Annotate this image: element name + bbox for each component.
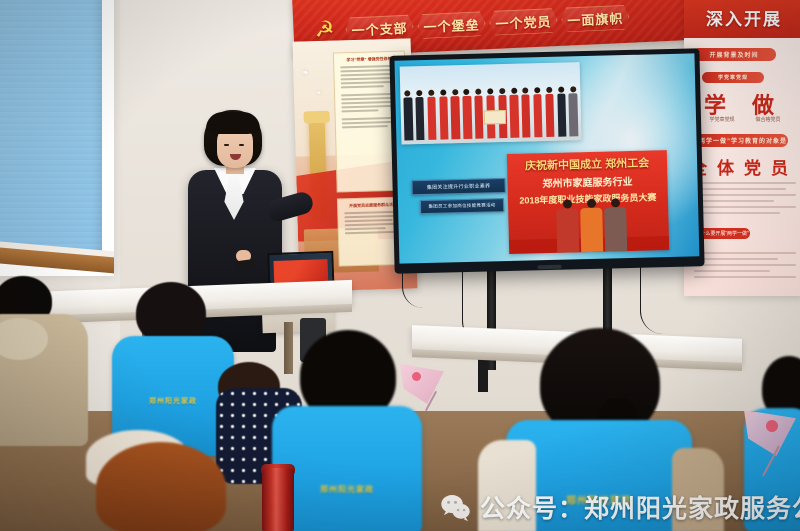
- award-figure-2: [580, 199, 603, 253]
- watermark: 公众号：郑州阳光家政服务公司: [440, 489, 800, 525]
- award-figure-3: [604, 198, 627, 252]
- window-blind: [0, 0, 102, 254]
- tv-brand-logo: [538, 265, 562, 270]
- award-banner-line-1: 庆祝新中国成立 郑州工会: [507, 154, 667, 174]
- slide-award-photo: 庆祝新中国成立 郑州工会 郑州市家庭服务行业 2018年度职业技能家政服务员大赛: [507, 150, 669, 254]
- presentation-display[interactable]: 庆祝新中国成立 郑州工会 郑州市家庭服务行业 2018年度职业技能家政服务员大赛…: [389, 48, 704, 274]
- bouquet-bud-right: [766, 420, 778, 432]
- award-banner-line-2: 郑州市家庭服务行业: [507, 172, 667, 191]
- wechat-icon: [440, 492, 471, 523]
- campaign-pill-2: “两学一做”学习教育的对象是: [694, 134, 788, 147]
- dove-icon-2: ❧: [316, 89, 322, 97]
- slide-caption-2: 集团员工参加岗位技能竞赛活动: [420, 198, 504, 214]
- dove-icon: ❧: [301, 67, 309, 78]
- award-figure-1: [556, 199, 579, 253]
- slide-caption-1: 集团关注提升行业职业素养: [411, 178, 505, 195]
- campaign-poster-header: 深入开展: [684, 0, 800, 38]
- audience-head-2: [136, 282, 206, 344]
- campaign-poster-heading: 深入开展: [706, 5, 782, 30]
- campaign-pill-1: 开展背景及时间: [692, 48, 776, 61]
- tv-screen: 庆祝新中国成立 郑州工会 郑州市家庭服务行业 2018年度职业技能家政服务员大赛…: [395, 53, 700, 263]
- bouquet-bud-left: [412, 372, 421, 381]
- bouquet-wrap-right: [744, 410, 796, 456]
- desk-leg-2: [284, 322, 293, 374]
- group-photo-people: [402, 84, 579, 140]
- tv-stand-leg: [478, 358, 488, 392]
- banner-phrase-2: 一个堡垒: [417, 11, 486, 39]
- certificate-icon: [484, 110, 506, 125]
- window: [0, 0, 114, 276]
- flower-bouquet-left: [400, 364, 446, 412]
- slide-group-photo: [400, 62, 582, 144]
- bouquet-wrap-left: [400, 364, 444, 404]
- banner-phrase-4: 一面旗帜: [561, 4, 630, 32]
- red-thermos-bottle[interactable]: [262, 468, 294, 531]
- screenshot-root: ☭ 一个支部 一个堡垒 一个党员 一面旗帜 ❧ ❧ 学习“党章” 增强党性修养 …: [0, 0, 800, 531]
- campaign-sub-right: 做合格党员: [708, 116, 800, 123]
- speaker-fringe: [206, 112, 260, 134]
- banner-phrase-3: 一个党员: [489, 7, 558, 35]
- cable-3: [640, 262, 663, 334]
- flower-bouquet-right: [744, 410, 800, 480]
- campaign-pill-subtitle: 学党章党规: [702, 72, 764, 83]
- vest-print-5: 郑州阳光家政: [272, 484, 422, 495]
- party-emblem-icon: ☭: [311, 16, 338, 43]
- watermark-text: 公众号：郑州阳光家政服务公司: [480, 489, 800, 525]
- audience-head-4: [96, 442, 226, 531]
